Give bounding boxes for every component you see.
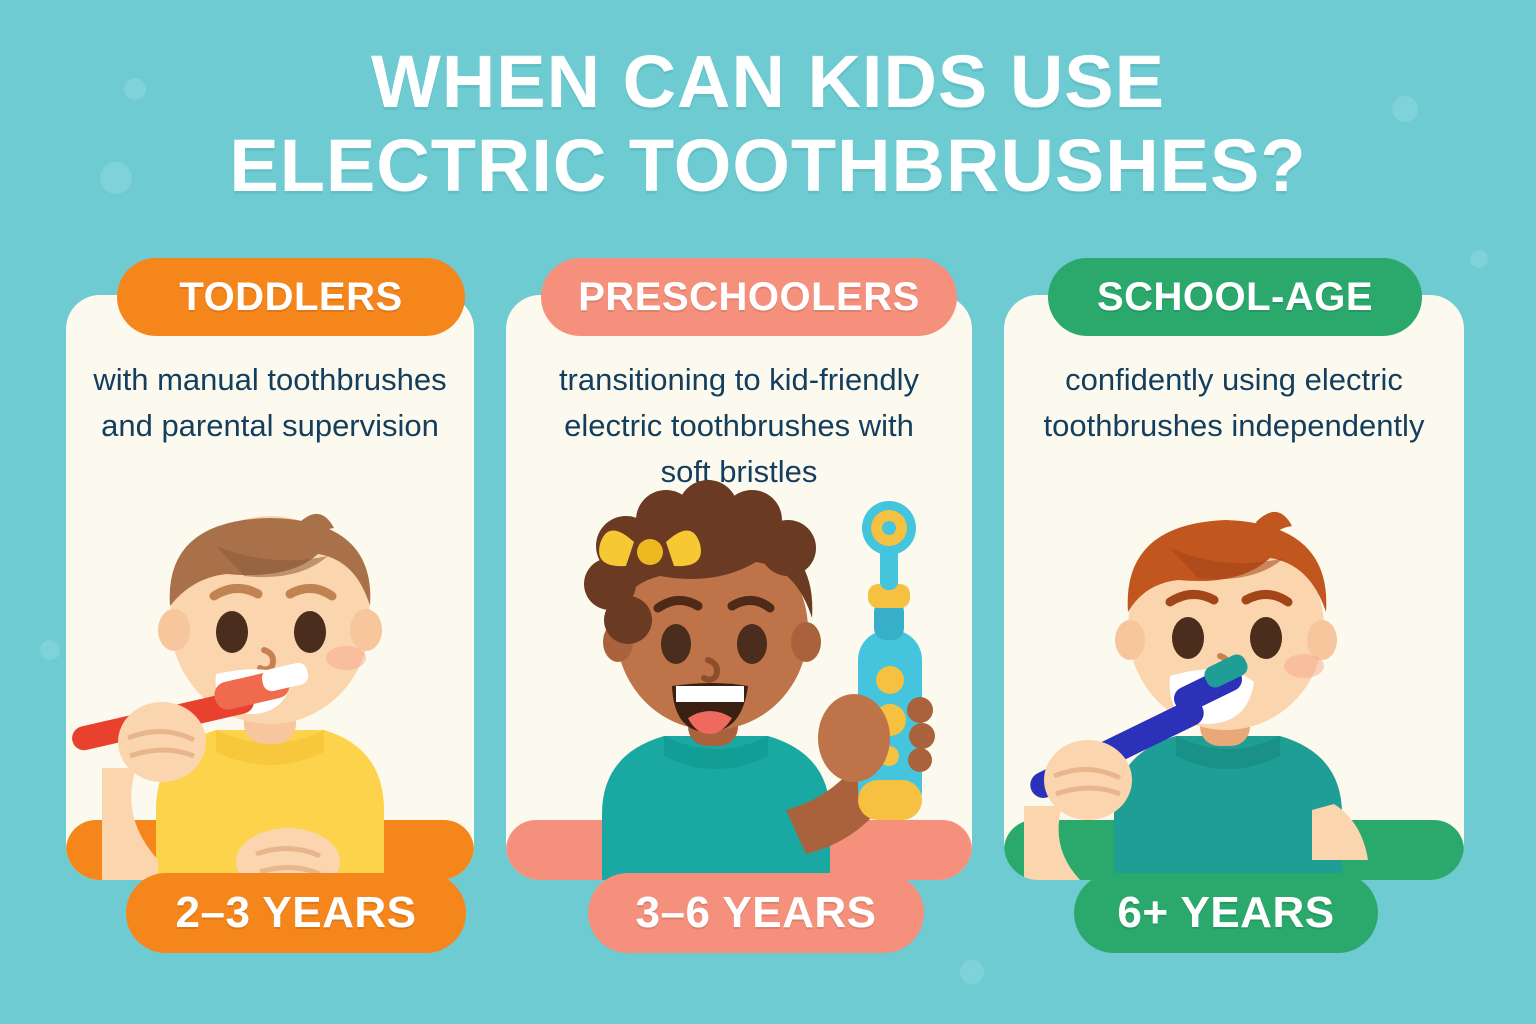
card-school-age[interactable]: confidently using electric toothbrushes …	[1004, 295, 1464, 880]
illustration-school-age	[1004, 480, 1464, 880]
illustration-toddler	[66, 480, 474, 880]
title-line-1: WHEN CAN KIDS USE	[371, 40, 1165, 123]
age-badge-toddlers[interactable]: 2–3 YEARS	[126, 873, 466, 953]
page-title: WHEN CAN KIDS USE ELECTRIC TOOTHBRUSHES?	[0, 40, 1536, 208]
card-header-preschoolers[interactable]: PRESCHOOLERS	[541, 258, 957, 336]
card-toddlers[interactable]: with manual toothbrushes and parental su…	[66, 295, 474, 880]
card-header-toddlers[interactable]: TODDLERS	[117, 258, 465, 336]
infographic-canvas: WHEN CAN KIDS USE ELECTRIC TOOTHBRUSHES?…	[0, 0, 1536, 1024]
background-dot	[40, 640, 60, 660]
background-dot	[960, 960, 984, 984]
card-header-school-age[interactable]: SCHOOL-AGE	[1048, 258, 1422, 336]
card-description: confidently using electric toothbrushes …	[1004, 357, 1464, 449]
age-badge-preschoolers[interactable]: 3–6 YEARS	[588, 873, 924, 953]
background-dot	[1470, 250, 1488, 268]
card-preschoolers[interactable]: transitioning to kid-friendly electric t…	[506, 295, 972, 880]
card-description: transitioning to kid-friendly electric t…	[506, 357, 972, 495]
age-badge-school-age[interactable]: 6+ YEARS	[1074, 873, 1378, 953]
card-description: with manual toothbrushes and parental su…	[66, 357, 474, 449]
illustration-preschooler	[506, 480, 972, 880]
title-line-2: ELECTRIC TOOTHBRUSHES?	[0, 124, 1536, 208]
